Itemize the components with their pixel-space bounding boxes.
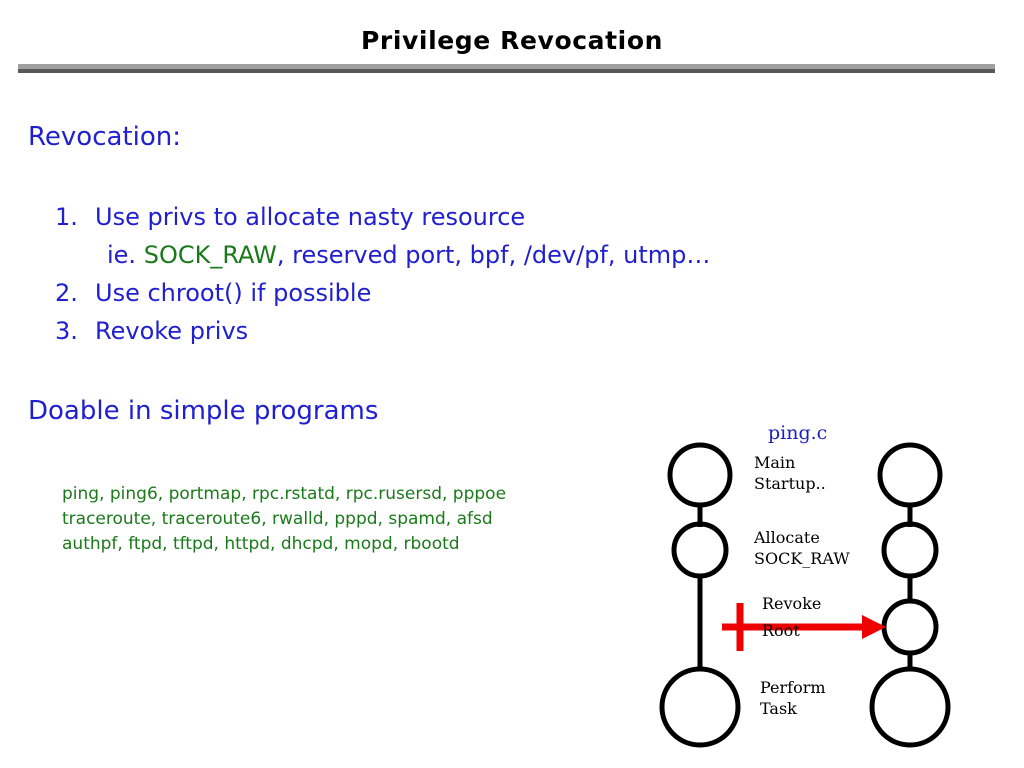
program-list-line: ping, ping6, portmap, rpc.rstatd, rpc.ru… <box>62 482 506 507</box>
program-list-line: traceroute, traceroute6, rwalld, pppd, s… <box>62 507 506 532</box>
detail-highlight-sock-raw: SOCK_RAW <box>144 241 277 269</box>
arrow-head-icon <box>862 615 886 639</box>
ping-flow-diagram: ping.c Main Startup.. Allocate SOCK_RAW … <box>650 415 1010 760</box>
diagram-title: ping.c <box>768 422 827 444</box>
program-list-line: authpf, ftpd, tftpd, httpd, dhcpd, mopd,… <box>62 532 506 557</box>
left-column-flow <box>662 445 738 745</box>
list-item-number: 2. <box>55 274 95 312</box>
right-node-perform <box>872 669 948 745</box>
list-item: 1. Use privs to allocate nasty resource <box>55 198 855 236</box>
list-item-label: Use privs to allocate nasty resource <box>95 198 855 236</box>
diagram-label-allocate: Allocate SOCK_RAW <box>754 527 850 569</box>
list-item-detail: ie. SOCK_RAW, reserved port, bpf, /dev/p… <box>55 236 855 274</box>
program-list: ping, ping6, portmap, rpc.rstatd, rpc.ru… <box>62 482 506 557</box>
diagram-label-allocate-line1: Allocate <box>754 527 850 548</box>
detail-suffix: , reserved port, bpf, /dev/pf, utmp… <box>277 241 711 269</box>
diagram-label-main-line1: Main <box>754 452 826 473</box>
left-node-allocate <box>674 524 726 576</box>
divider-shadow <box>18 69 995 73</box>
list-item: 2. Use chroot() if possible <box>55 274 855 312</box>
list-item-label: Use chroot() if possible <box>95 274 855 312</box>
list-item-number: 3. <box>55 312 95 350</box>
page-title: Privilege Revocation <box>0 26 1024 55</box>
right-column-flow <box>872 445 948 745</box>
right-node-revoke <box>884 601 936 653</box>
diagram-label-allocate-line2: SOCK_RAW <box>754 548 850 569</box>
revocation-steps-list: 1. Use privs to allocate nasty resource … <box>55 198 855 350</box>
detail-prefix: ie. <box>107 241 144 269</box>
right-node-main <box>880 445 940 505</box>
title-divider <box>18 64 995 73</box>
right-node-allocate <box>884 524 936 576</box>
diagram-label-main: Main Startup.. <box>754 452 826 494</box>
diagram-label-perform: Perform Task <box>760 677 826 719</box>
diagram-label-main-line2: Startup.. <box>754 473 826 494</box>
left-node-perform <box>662 669 738 745</box>
list-item-label: Revoke privs <box>95 312 855 350</box>
diagram-label-root: Root <box>762 620 800 641</box>
list-item-number: 1. <box>55 198 95 236</box>
heading-revocation: Revocation: <box>28 122 181 152</box>
diagram-label-perform-line1: Perform <box>760 677 826 698</box>
diagram-label-revoke: Revoke <box>762 593 821 614</box>
list-item: 3. Revoke privs <box>55 312 855 350</box>
heading-doable: Doable in simple programs <box>28 396 378 426</box>
diagram-label-perform-line2: Task <box>760 698 826 719</box>
left-node-main <box>670 445 730 505</box>
diagram-canvas <box>650 415 1010 760</box>
